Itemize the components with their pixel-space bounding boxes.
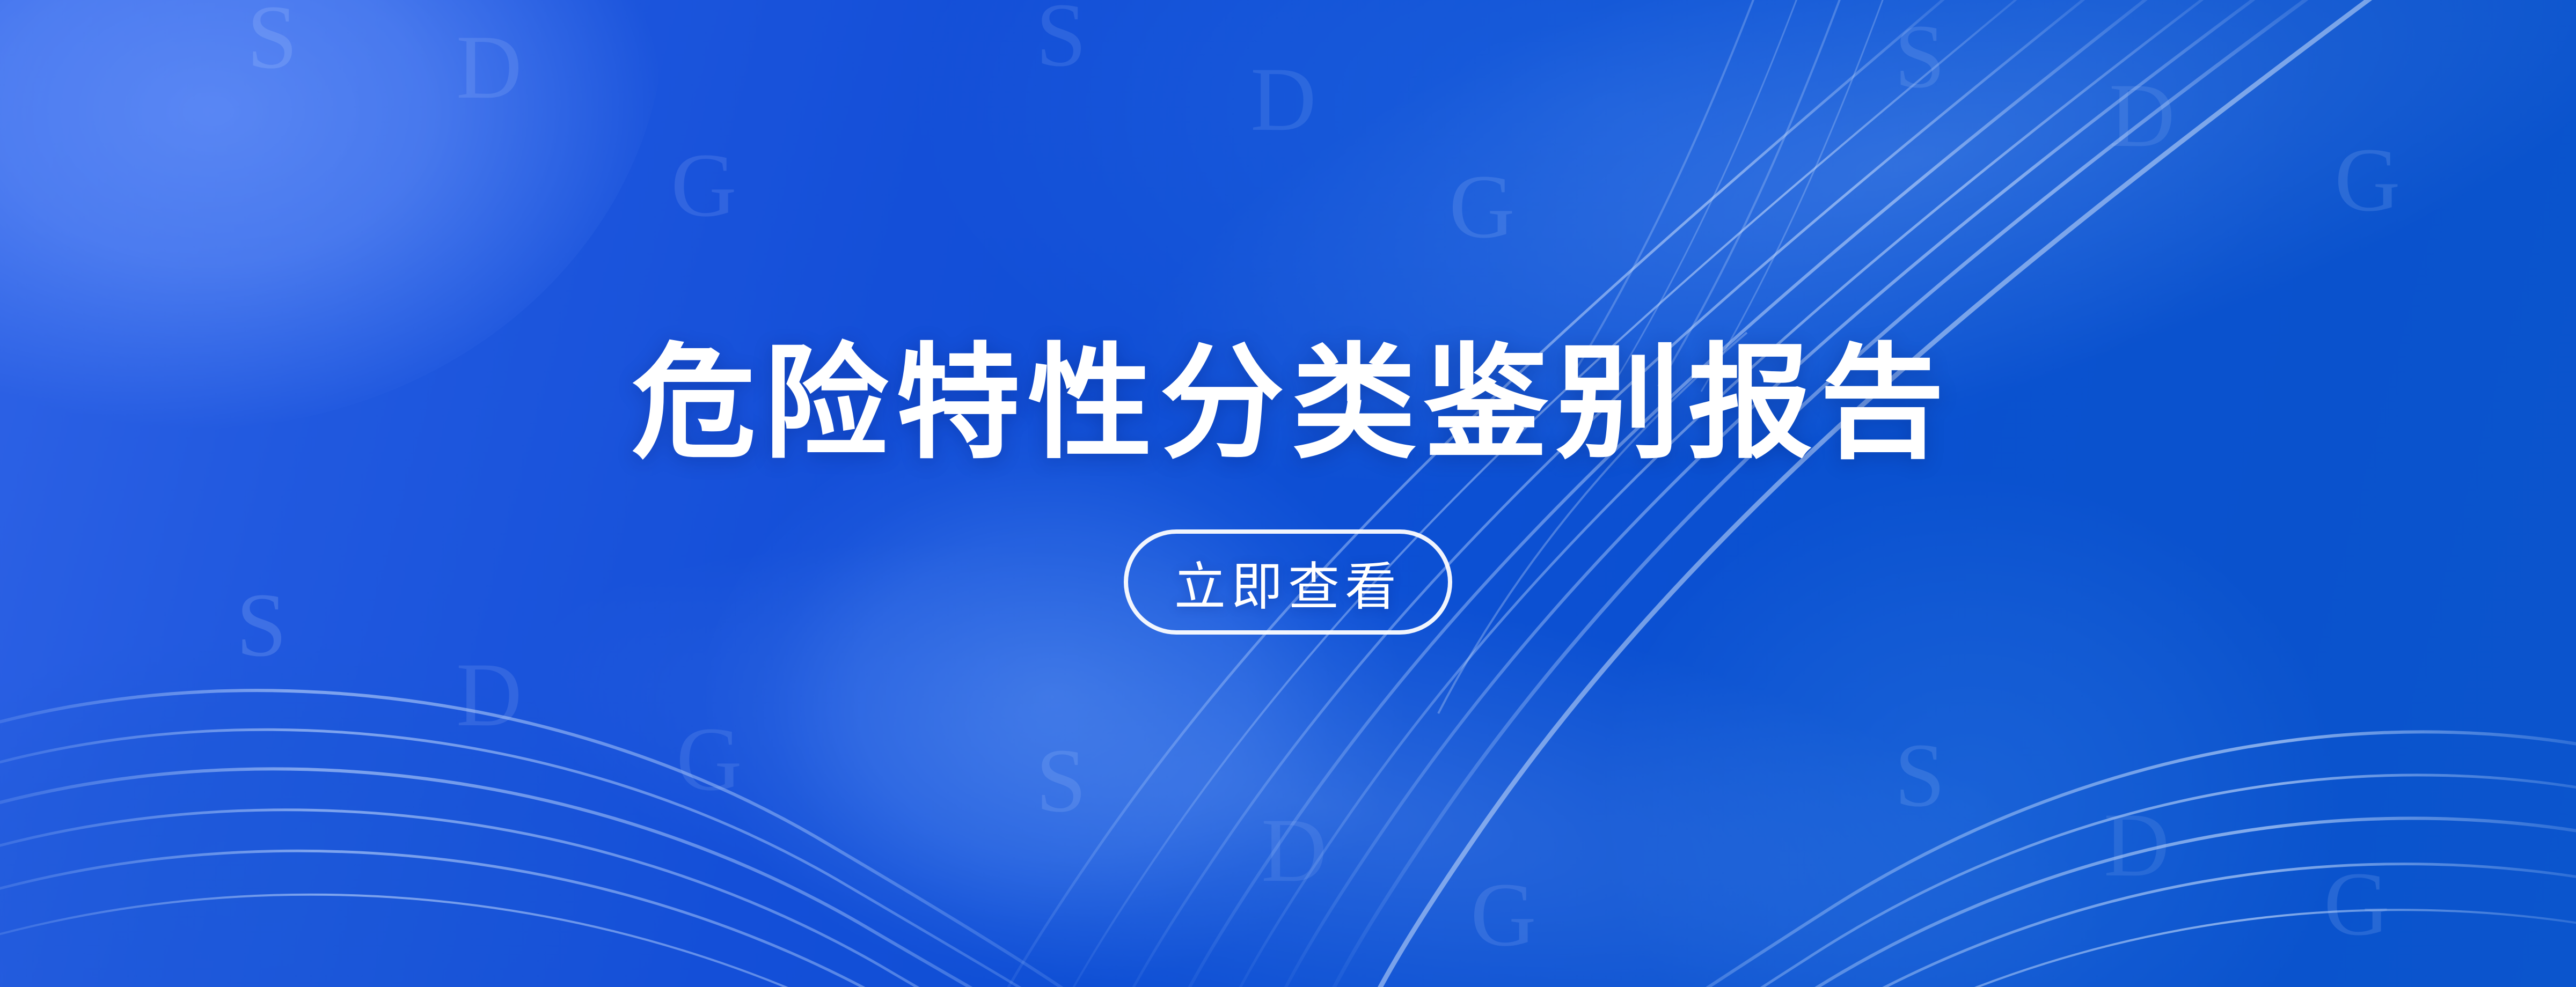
banner-content: 危险特性分类鉴别报告 立即查看 <box>0 0 2576 987</box>
view-now-button[interactable]: 立即查看 <box>1124 529 1452 635</box>
promo-banner: SDGSDGSDGSDGSDGSDG 危险特性分类鉴别报告 立即查看 <box>0 0 2576 987</box>
page-title: 危险特性分类鉴别报告 <box>632 342 1952 466</box>
